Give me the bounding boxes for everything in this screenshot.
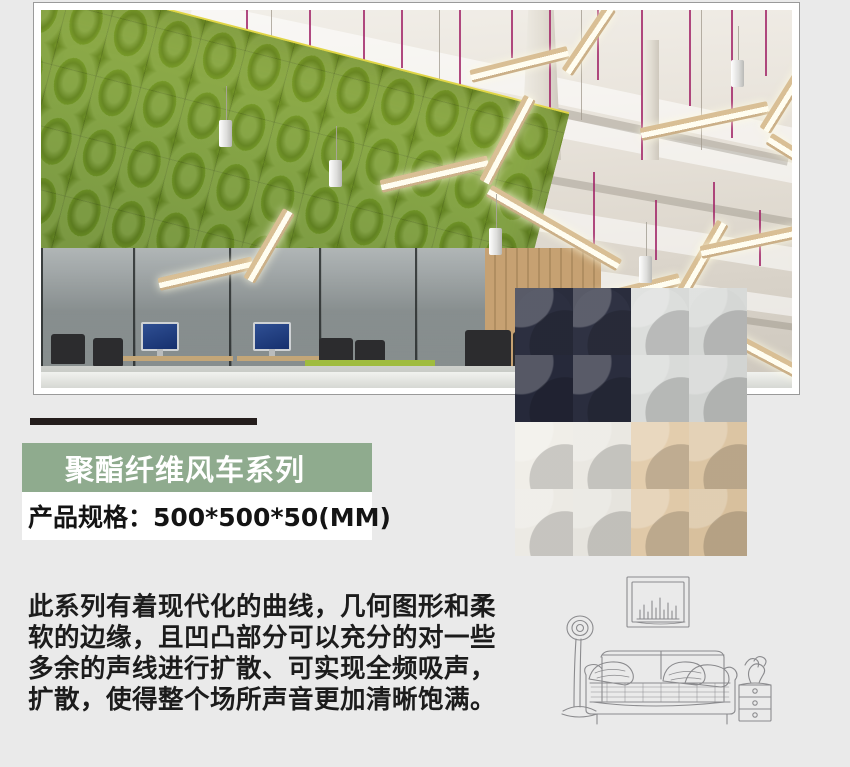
cylinder-pendant-light [219, 120, 232, 147]
panel-tile [689, 355, 747, 422]
office-chair [93, 338, 123, 366]
panel-tile [573, 288, 631, 355]
description-line: 软的边缘，且凹凸部分可以充分的对一些 [28, 623, 498, 654]
living-room-sketch [545, 565, 835, 750]
swatch-quadrant-off-white [515, 422, 631, 556]
hanging-rod [655, 200, 657, 260]
panel-tile [689, 288, 747, 355]
desktop-monitor [253, 322, 291, 351]
swatch-quadrant-dark-navy [515, 288, 631, 422]
hanging-rod [689, 10, 691, 106]
panel-tile [515, 288, 573, 355]
suspension-wire [701, 10, 702, 150]
panel-tile [631, 422, 689, 489]
panel-tile [573, 355, 631, 422]
cylinder-pendant-light [489, 228, 502, 255]
hanging-rod [765, 10, 767, 76]
series-title-band: 聚酯纤维风车系列 [22, 443, 372, 492]
description-line: 扩散，使得整个场所声音更加清晰饱满。 [28, 685, 498, 716]
cylinder-pendant-light [731, 60, 744, 87]
framed-picture-icon [627, 577, 689, 627]
panel-tile [631, 355, 689, 422]
ceiling-column [641, 40, 659, 160]
description-line: 此系列有着现代化的曲线，几何图形和柔 [28, 592, 498, 623]
desktop-monitor [141, 322, 179, 351]
cylinder-pendant-light [329, 160, 342, 187]
vase-icon [745, 657, 766, 683]
page-title: 聚酯纤维风车系列 [65, 447, 305, 489]
office-chair [51, 334, 85, 364]
cylinder-pendant-light [639, 256, 652, 283]
section-divider [30, 418, 257, 425]
swatch-quadrant-beige-tan [631, 422, 747, 556]
product-detail-page: 聚酯纤维风车系列 产品规格：500*500*50(MM) 此系列有着现代化的曲线… [0, 0, 850, 767]
product-spec-text: 产品规格：500*500*50(MM) [28, 498, 391, 534]
product-spec-band: 产品规格：500*500*50(MM) [22, 492, 372, 540]
swatch-grid [515, 288, 747, 556]
panel-tile [631, 489, 689, 556]
panel-tile [689, 489, 747, 556]
panel-tile [631, 288, 689, 355]
hanging-rod [401, 10, 403, 68]
panel-tile [515, 355, 573, 422]
panel-tile [689, 422, 747, 489]
suspension-wire [581, 10, 582, 120]
product-description: 此系列有着现代化的曲线，几何图形和柔 软的边缘，且凹凸部分可以充分的对一些 多余… [28, 592, 498, 716]
description-line: 多余的声线进行扩散、可实现全频吸声， [28, 654, 498, 685]
office-desk [113, 356, 233, 361]
nightstand-icon [739, 683, 771, 721]
panel-color-swatches [515, 288, 747, 556]
hanging-rod [511, 10, 513, 58]
swatch-quadrant-light-grey [631, 288, 747, 422]
panel-tile [515, 422, 573, 489]
panel-tile [573, 422, 631, 489]
office-chair [465, 330, 511, 368]
sofa-icon [585, 651, 737, 724]
panel-tile [573, 489, 631, 556]
panel-tile [515, 489, 573, 556]
